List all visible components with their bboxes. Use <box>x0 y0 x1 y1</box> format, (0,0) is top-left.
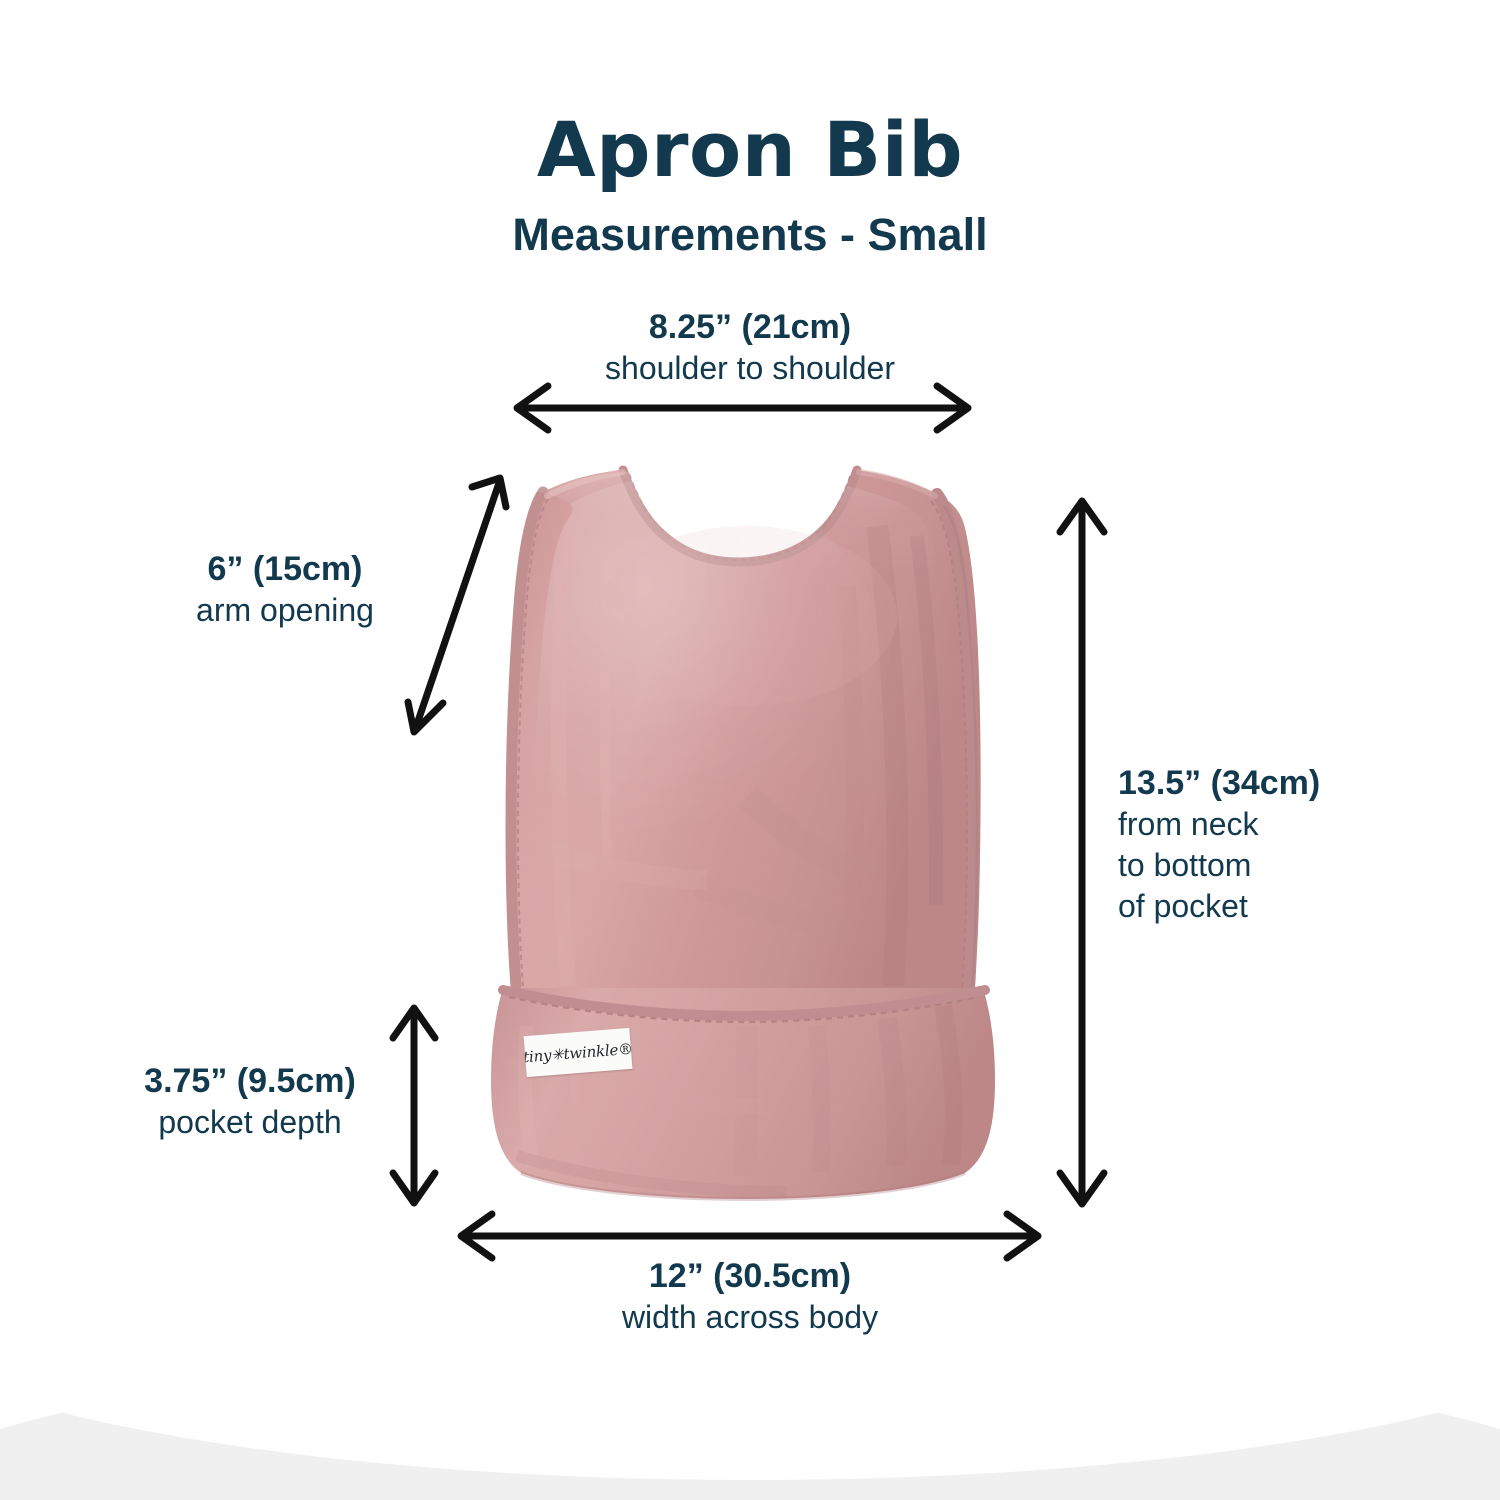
arrow-shoulder-to-shoulder <box>517 386 968 430</box>
measurement-desc-arm-opening: arm opening <box>120 590 450 631</box>
brand-tag: tiny✳twinkle® <box>524 1028 633 1077</box>
brand-tag-text: tiny✳twinkle® <box>524 1039 633 1066</box>
measurement-desc-width-across-body: width across body <box>0 1297 1500 1338</box>
measurement-label-pocket-depth: 3.75” (9.5cm) pocket depth <box>100 1060 400 1143</box>
measurement-desc-neck-to-pocket-line2: to bottom <box>1118 845 1418 886</box>
arrow-width-across-body <box>461 1214 1038 1258</box>
measurement-label-arm-opening: 6” (15cm) arm opening <box>120 548 450 631</box>
measurement-value-shoulder: 8.25” (21cm) <box>0 306 1500 348</box>
measurement-desc-pocket-depth: pocket depth <box>100 1102 400 1143</box>
measurement-value-neck-to-pocket: 13.5” (34cm) <box>1118 762 1418 804</box>
measurement-value-pocket-depth: 3.75” (9.5cm) <box>100 1060 400 1102</box>
measurement-label-width-across-body: 12” (30.5cm) width across body <box>0 1255 1500 1338</box>
measurement-label-shoulder: 8.25” (21cm) shoulder to shoulder <box>0 306 1500 389</box>
measurement-desc-neck-to-pocket-line1: from neck <box>1118 804 1418 845</box>
measurement-label-neck-to-pocket: 13.5” (34cm) from neck to bottom of pock… <box>1118 762 1418 927</box>
measurement-value-width-across-body: 12” (30.5cm) <box>0 1255 1500 1297</box>
measurement-desc-shoulder: shoulder to shoulder <box>0 348 1500 389</box>
measurement-value-arm-opening: 6” (15cm) <box>120 548 450 590</box>
measurement-desc-neck-to-pocket-line3: of pocket <box>1118 886 1418 927</box>
apron-bib-illustration <box>447 466 1043 1199</box>
arrow-neck-to-pocket <box>1060 501 1104 1204</box>
page-subtitle: Measurements - Small <box>0 212 1500 257</box>
page-title: Apron Bib <box>0 112 1500 188</box>
measurement-diagram: Apron Bib Measurements - Small <box>0 0 1500 1500</box>
